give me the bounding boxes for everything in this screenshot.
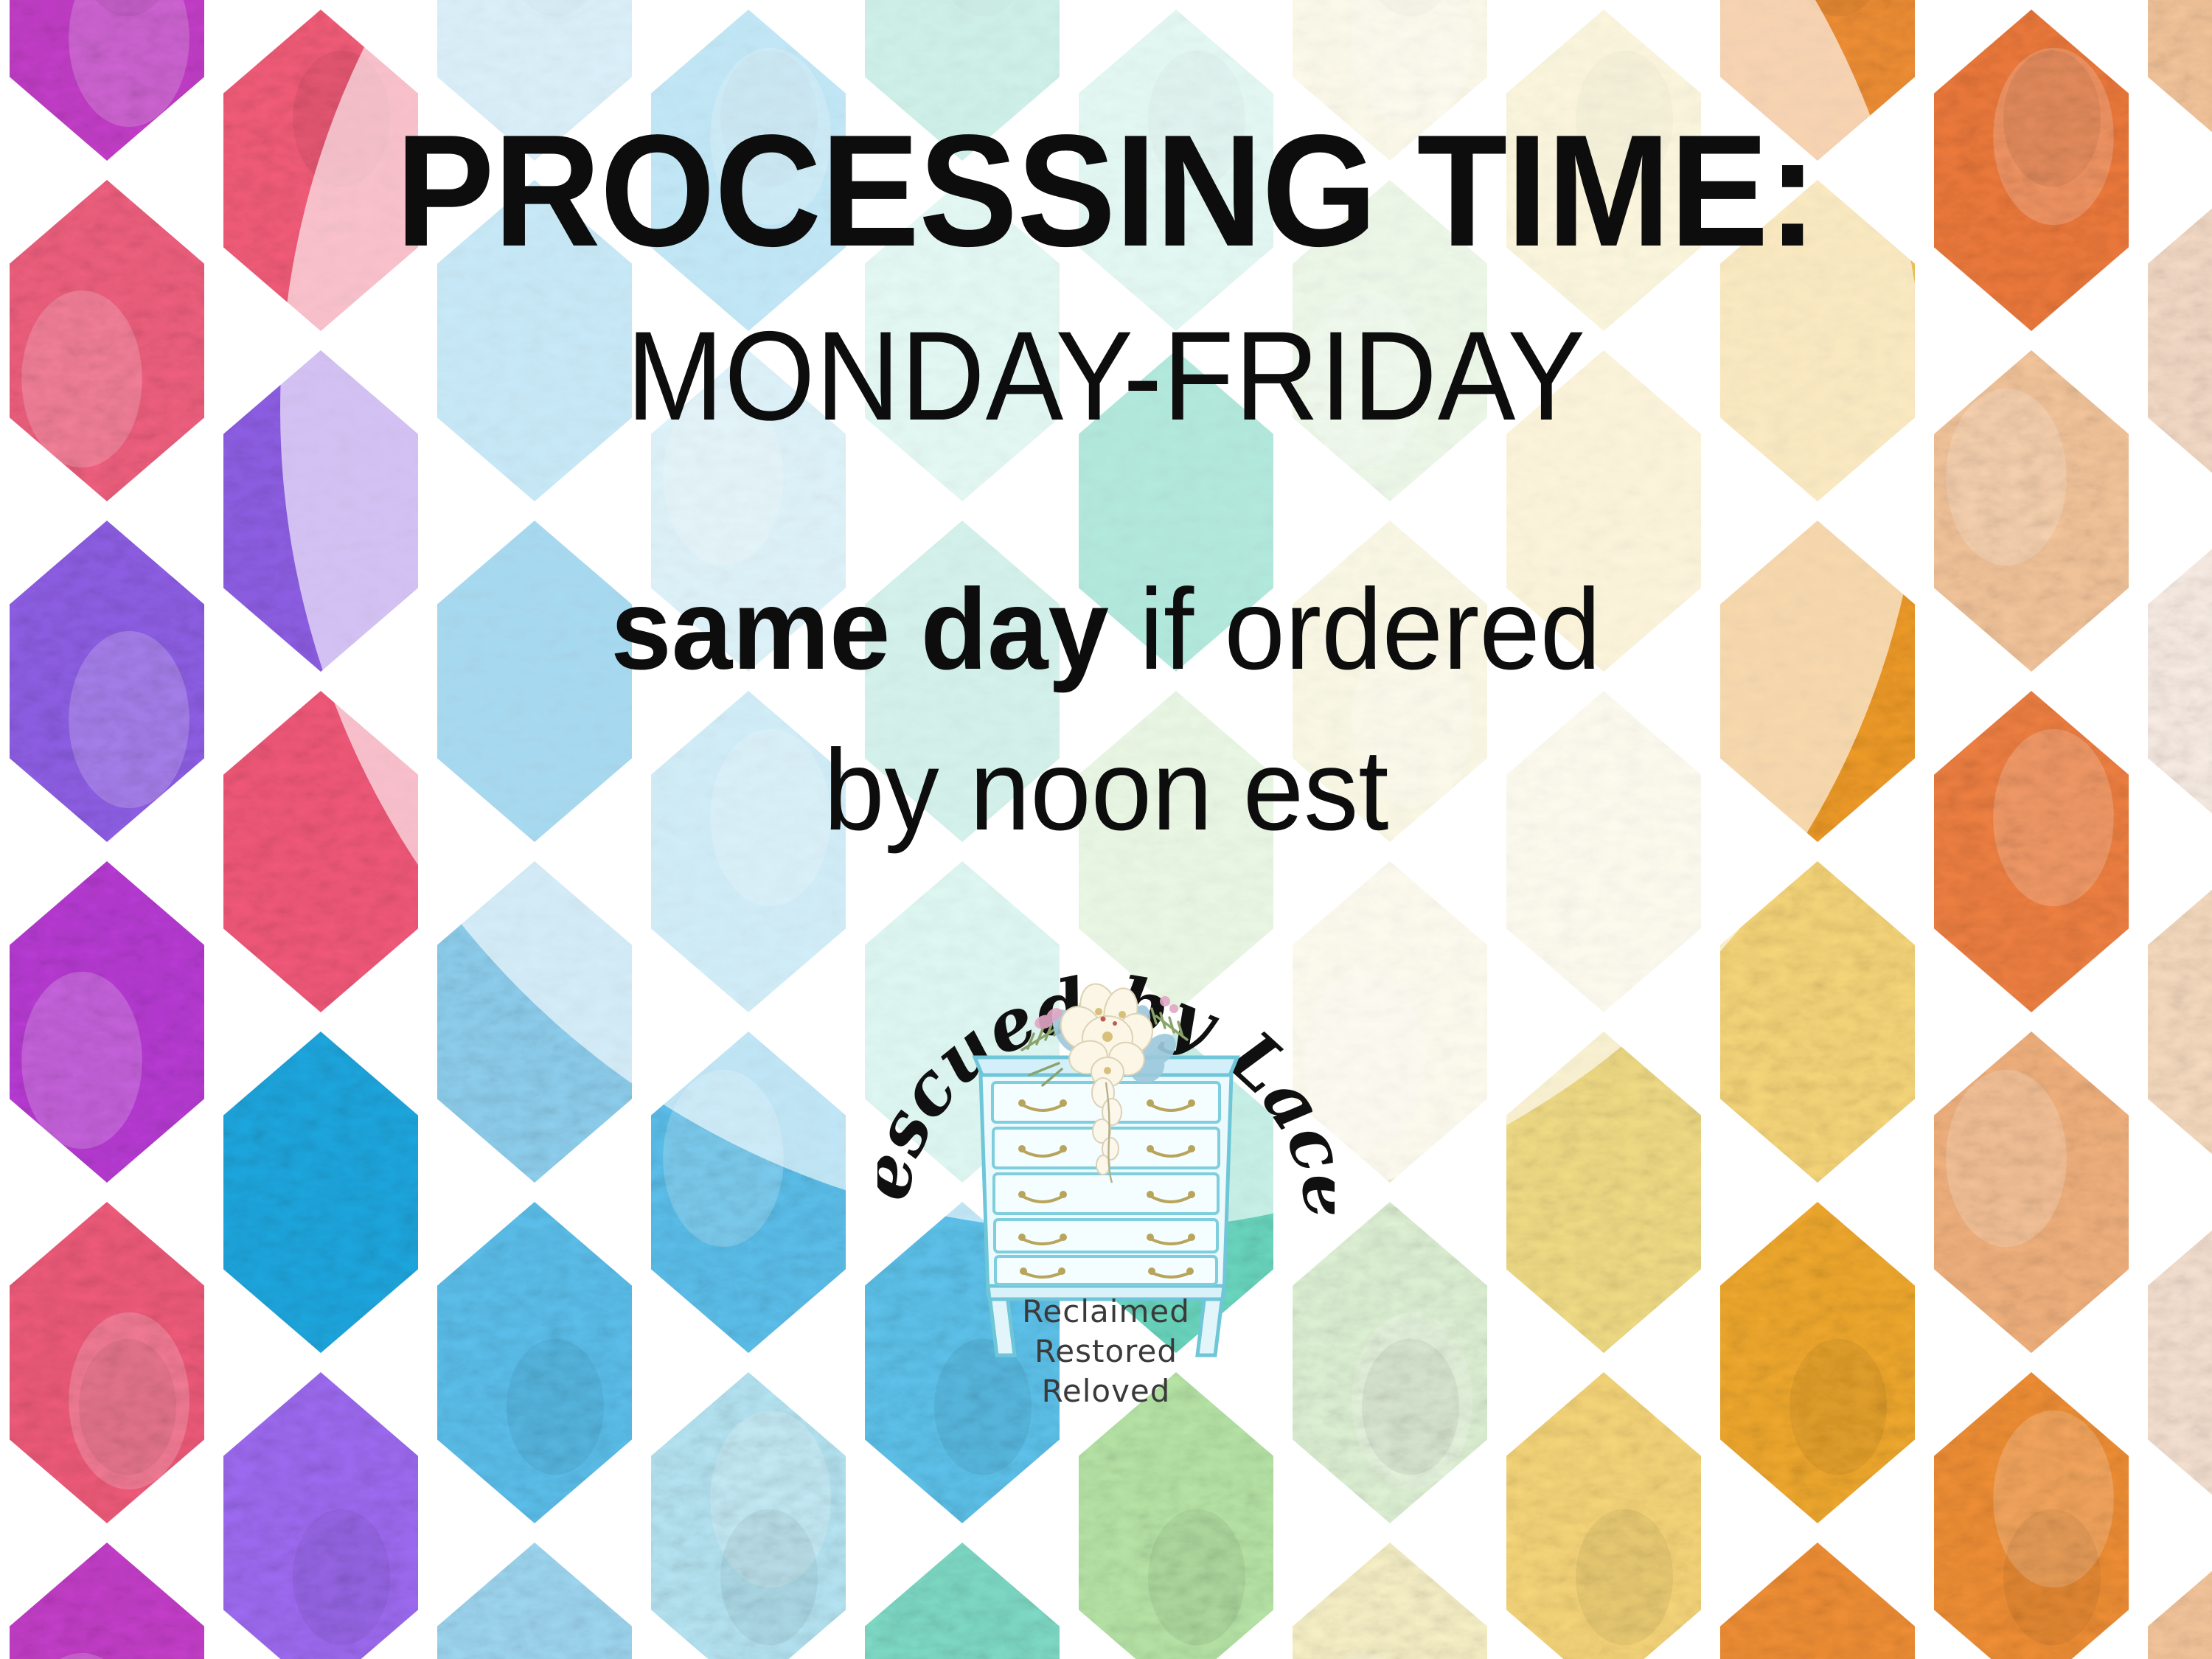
tagline-line-3: Reloved (877, 1371, 1335, 1411)
promo-line-2: by noon est (824, 733, 1388, 848)
page-title: PROCESSING TIME: (395, 111, 1816, 270)
tagline-line-1: Reclaimed (877, 1292, 1335, 1332)
tagline-line-2: Restored (877, 1332, 1335, 1371)
promo-rest: if ordered (1109, 566, 1601, 694)
poster-content: PROCESSING TIME: MONDAY-FRIDAY same day … (0, 0, 2212, 1659)
promo-line-1: same day if ordered (611, 572, 1601, 687)
promo-emphasis: same day (611, 566, 1110, 694)
brand-logo: Rescued by Lacey (877, 882, 1335, 1398)
brand-tagline: Reclaimed Restored Reloved (877, 1292, 1335, 1411)
schedule-days: MONDAY-FRIDAY (626, 313, 1585, 439)
poster-canvas: PROCESSING TIME: MONDAY-FRIDAY same day … (0, 0, 2212, 1659)
